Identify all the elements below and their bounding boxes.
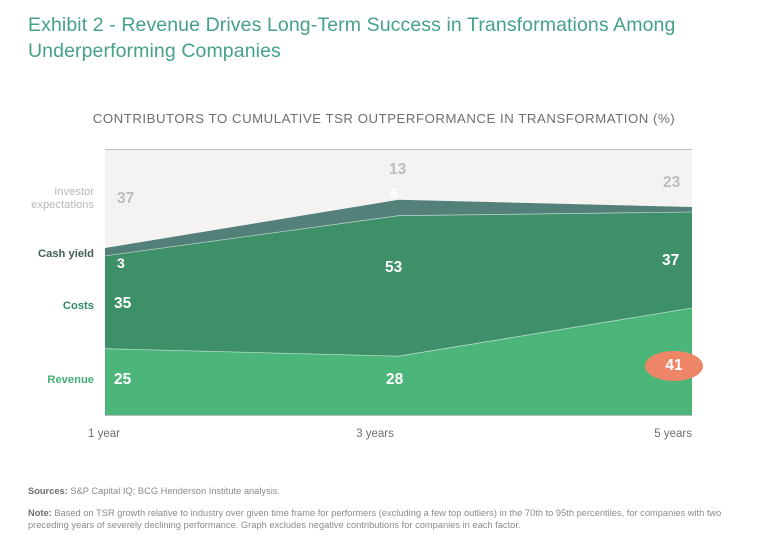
data-label-investor-5years: 23 [663, 174, 680, 192]
data-label-costs-1year: 35 [114, 295, 131, 313]
note-line: Note: Based on TSR growth relative to in… [28, 507, 728, 532]
data-label-cash-yield-1year: 3 [117, 255, 125, 271]
note-text: Based on TSR growth relative to industry… [28, 508, 721, 531]
plot-axis-line [105, 415, 692, 416]
sources-line: Sources: S&P Capital IQ; BCG Henderson I… [28, 485, 728, 498]
x-axis-tick-3years: 3 years [356, 428, 394, 440]
x-axis-tick-5years: 5 years [654, 428, 692, 440]
note-label: Note: [28, 508, 52, 518]
data-label-revenue-1year: 25 [114, 371, 131, 389]
sources-label: Sources: [28, 486, 68, 496]
series-label-cash-yield: Cash yield [8, 248, 94, 261]
chart-footnotes: Sources: S&P Capital IQ; BCG Henderson I… [28, 485, 728, 532]
highlight-annotation-revenue-5years: 41 [645, 351, 703, 381]
chart-title: CONTRIBUTORS TO CUMULATIVE TSR OUTPERFOR… [0, 111, 768, 126]
data-label-cash-yield-3years: 6 [390, 185, 398, 201]
data-label-costs-5years: 37 [662, 252, 679, 270]
series-label-investor-expectations: Investor expectations [8, 186, 94, 212]
x-axis-tick-1year: 1 year [88, 428, 120, 440]
data-label-investor-1year: 37 [117, 190, 134, 208]
page-title: Exhibit 2 - Revenue Drives Long-Term Suc… [28, 12, 728, 64]
sources-text: S&P Capital IQ; BCG Henderson Institute … [70, 486, 280, 496]
data-label-investor-3years: 13 [389, 161, 406, 179]
data-label-costs-3years: 53 [385, 259, 402, 277]
series-label-revenue: Revenue [8, 374, 94, 387]
series-label-costs: Costs [8, 300, 94, 313]
highlight-annotation-value: 41 [665, 358, 682, 374]
data-label-revenue-3years: 28 [386, 371, 403, 389]
